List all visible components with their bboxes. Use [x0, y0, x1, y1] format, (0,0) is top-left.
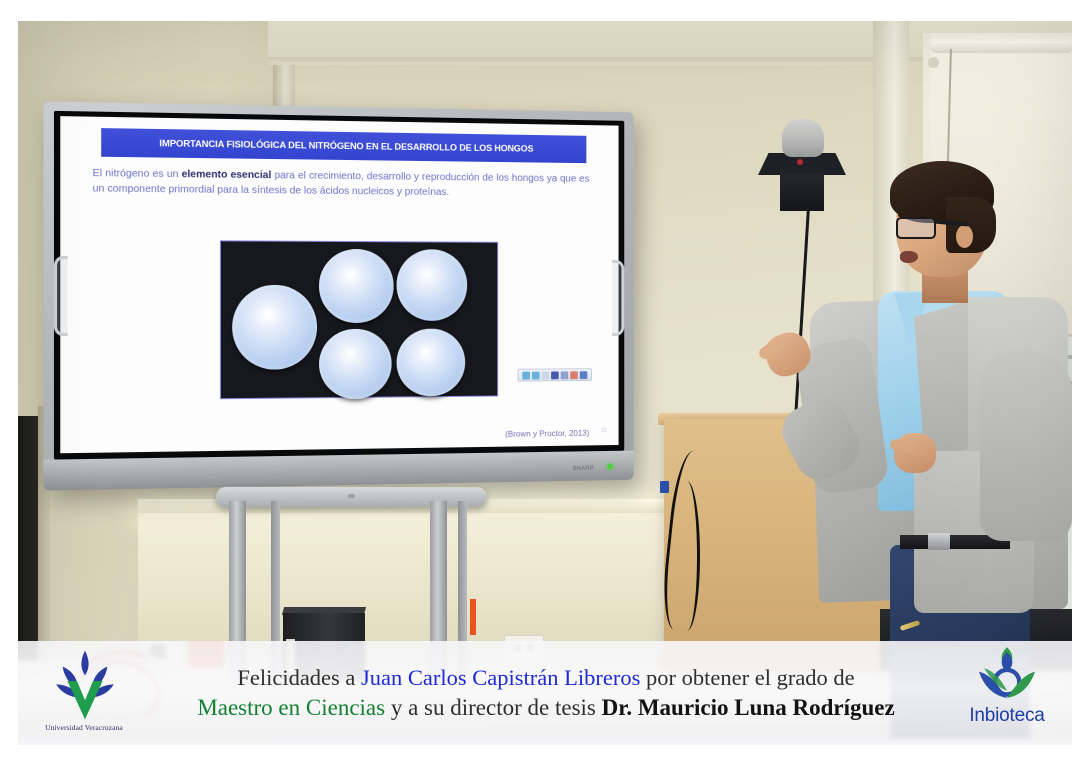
inbioteca-logo-caption: Inbioteca	[942, 705, 1072, 727]
advisor-name: Dr. Mauricio Luna Rodríguez	[602, 695, 895, 720]
screenshot-root: IMPORTANCIA FISIOLÓGICA DEL NITRÓGENO EN…	[0, 0, 1090, 760]
hair-side	[946, 197, 996, 253]
inbioteca-logo-mark-icon	[972, 645, 1042, 707]
figure-citation: (Brown y Proctor, 2013)	[505, 428, 589, 439]
presentation-slide[interactable]: IMPORTANCIA FISIOLÓGICA DEL NITRÓGENO EN…	[60, 116, 618, 453]
stand-crossbar-detail	[348, 494, 355, 498]
banner-text-block: Felicidades a Juan Carlos Capistrán Libr…	[150, 664, 942, 722]
pointer-icon[interactable]	[541, 371, 549, 379]
prev-arrow-icon[interactable]	[522, 372, 530, 380]
petri-dish	[319, 249, 394, 322]
petri-dish	[397, 328, 465, 396]
podium-cable-bundle-2	[674, 481, 700, 631]
right-hand	[894, 433, 936, 473]
uv-logo: Universidad Veracruzana	[18, 643, 150, 743]
congratulations-banner: Universidad Veracruzana Felicidades a Ju…	[18, 641, 1072, 745]
menu-icon[interactable]	[570, 371, 578, 379]
uv-logo-caption: Universidad Veracruzana	[24, 723, 144, 732]
slide-number: 12	[601, 428, 607, 434]
right-arm	[980, 351, 1072, 541]
cable-clip	[660, 481, 669, 493]
eyeglasses-icon	[896, 217, 936, 239]
ear	[956, 225, 973, 248]
screen-icon[interactable]	[561, 371, 569, 379]
display-brand-label: SHARP	[572, 466, 594, 472]
slide-body-text: El nitrógeno es un elemento esencial par…	[93, 167, 590, 202]
degree-title: Maestro en Ciencias	[197, 695, 385, 720]
banner-line-2: Maestro en Ciencias y a su director de t…	[164, 693, 928, 722]
interactive-whiteboard-display[interactable]: IMPORTANCIA FISIOLÓGICA DEL NITRÓGENO EN…	[43, 101, 633, 490]
petri-dish	[319, 329, 391, 399]
shade-bracket	[928, 57, 939, 68]
belt-buckle	[928, 533, 950, 550]
petri-dish	[232, 285, 316, 370]
uv-logo-mark-icon	[44, 649, 126, 721]
display-handle-right[interactable]	[612, 260, 624, 336]
banner-line-1: Felicidades a Juan Carlos Capistrán Libr…	[164, 664, 928, 693]
slide-body-part-1: El nitrógeno es un	[93, 168, 182, 180]
display-handle-left[interactable]	[54, 256, 68, 336]
presentation-icon[interactable]	[580, 371, 588, 379]
slide-title: IMPORTANCIA FISIOLÓGICA DEL NITRÓGENO EN…	[101, 129, 586, 164]
dark-doorway	[18, 416, 40, 661]
display-screen[interactable]: IMPORTANCIA FISIOLÓGICA DEL NITRÓGENO EN…	[54, 111, 624, 460]
graduate-name: Juan Carlos Capistrán Libreros	[361, 665, 640, 690]
petri-dish-figure	[220, 240, 498, 399]
banner-line1-pre: Felicidades a	[237, 665, 361, 690]
presentation-toolbar[interactable]	[517, 369, 592, 382]
stand-orange-marker	[470, 599, 476, 635]
power-led-icon	[607, 464, 613, 470]
petri-dish	[397, 250, 468, 321]
presentation-photo: IMPORTANCIA FISIOLÓGICA DEL NITRÓGENO EN…	[18, 21, 1072, 739]
slide-body-bold: elemento esencial	[182, 169, 272, 181]
inbioteca-logo: Inbioteca	[942, 643, 1072, 743]
pen-icon[interactable]	[551, 371, 559, 379]
next-arrow-icon[interactable]	[532, 371, 540, 379]
banner-line2-mid: y a su director de tesis	[385, 695, 602, 720]
banner-line1-post: por obtener el grado de	[640, 665, 854, 690]
presenter-person	[718, 151, 1058, 671]
